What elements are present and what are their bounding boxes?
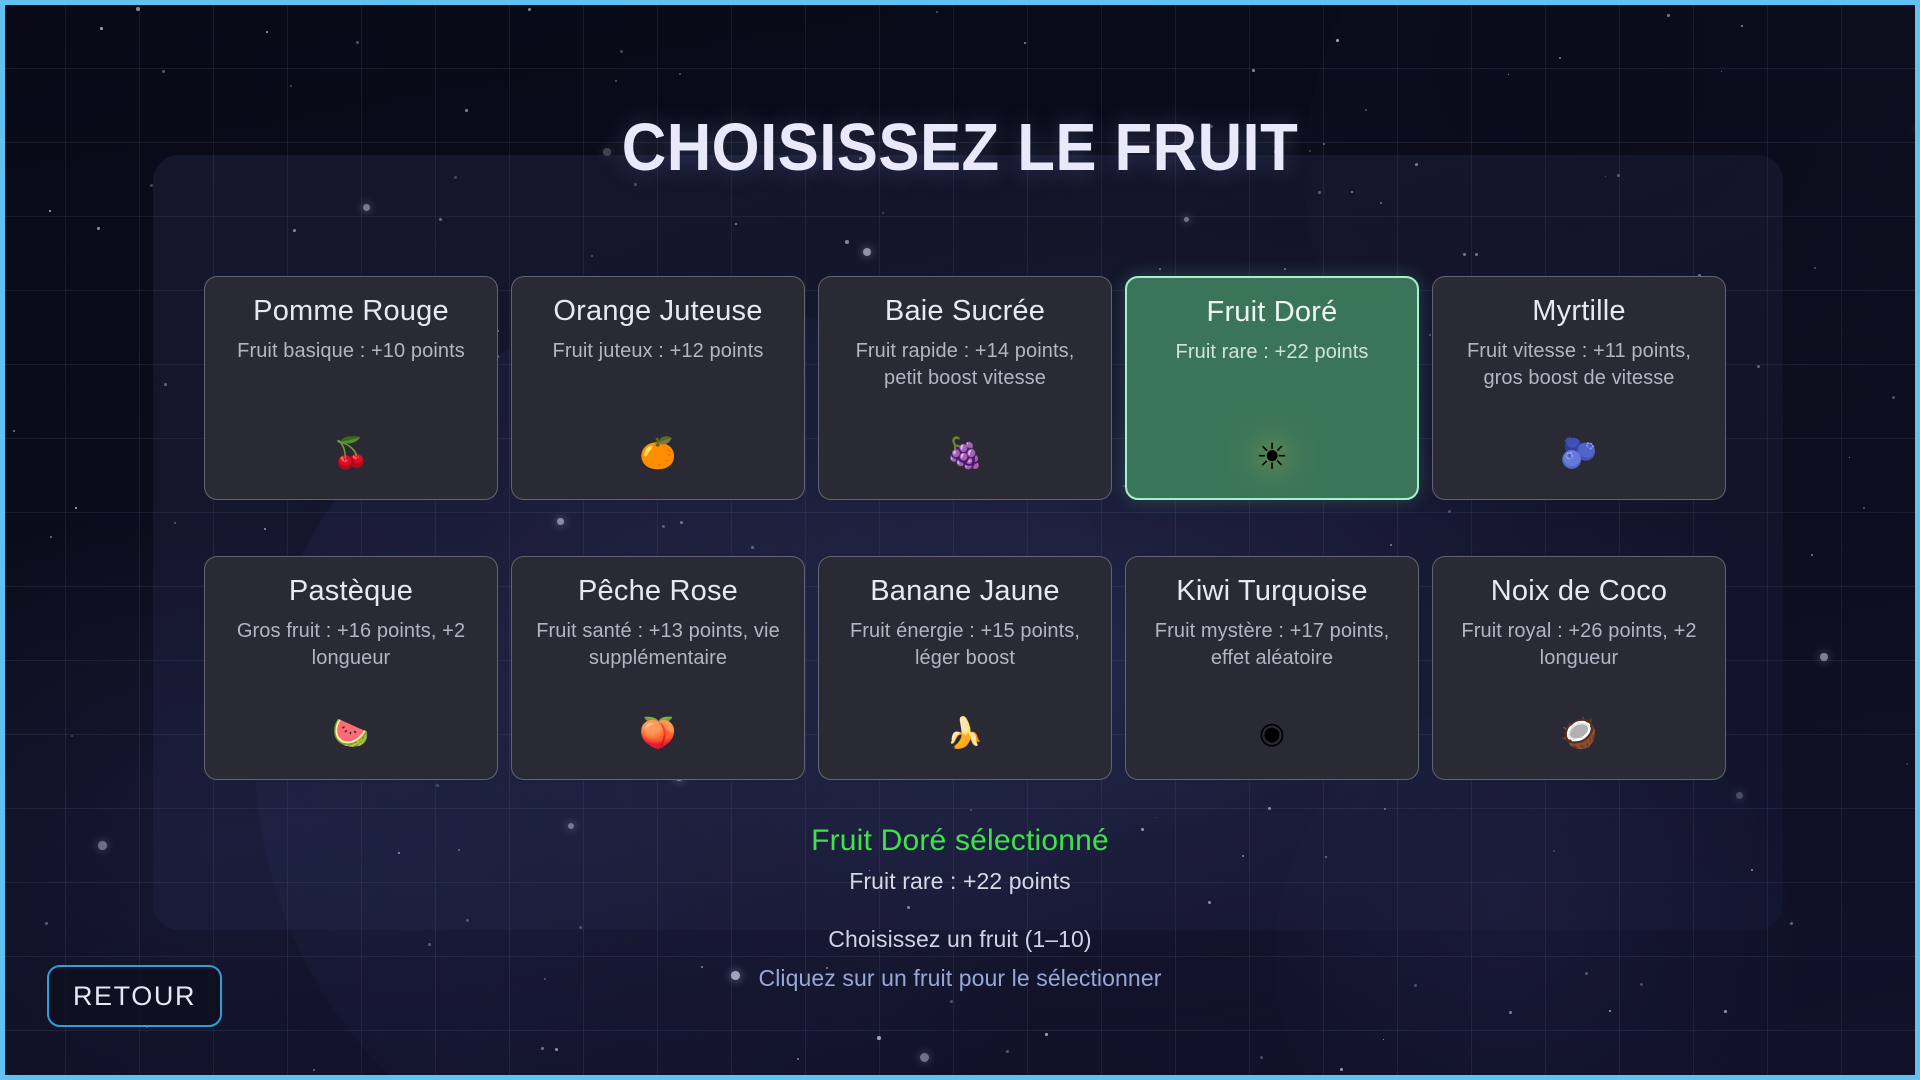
fruit-card-description: Fruit juteux : +12 points: [553, 338, 764, 364]
blueberry-icon: 🫐: [1433, 439, 1725, 469]
fruit-card-description: Fruit royal : +26 points, +2 longueur: [1453, 618, 1705, 671]
fruit-card-3[interactable]: Baie SucréeFruit rapide : +14 points, pe…: [818, 276, 1112, 500]
status-block: Fruit Doré sélectionné Fruit rare : +22 …: [5, 823, 1915, 992]
game-screen: CHOISISSEZ LE FRUIT Pomme RougeFruit bas…: [0, 0, 1920, 1080]
fruit-card-name: Kiwi Turquoise: [1176, 575, 1367, 607]
fruit-card-7[interactable]: Pêche RoseFruit santé : +13 points, vie …: [511, 556, 805, 780]
fruit-card-name: Pastèque: [289, 575, 413, 607]
fruit-card-name: Myrtille: [1532, 295, 1625, 327]
fruit-card-description: Fruit basique : +10 points: [237, 338, 465, 364]
fruit-card-4[interactable]: Fruit DoréFruit rare : +22 points☀: [1125, 276, 1419, 500]
fruit-card-name: Pomme Rouge: [253, 295, 449, 327]
fruit-card-2[interactable]: Orange JuteuseFruit juteux : +12 points🍊: [511, 276, 805, 500]
hint-secondary: Cliquez sur un fruit pour le sélectionne…: [5, 965, 1915, 992]
fruit-card-name: Noix de Coco: [1491, 575, 1668, 607]
fruit-card-description: Fruit mystère : +17 points, effet aléato…: [1146, 618, 1398, 671]
fruit-card-6[interactable]: PastèqueGros fruit : +16 points, +2 long…: [204, 556, 498, 780]
fruit-card-name: Baie Sucrée: [885, 295, 1045, 327]
fruit-card-name: Banane Jaune: [870, 575, 1059, 607]
fruit-card-name: Orange Juteuse: [553, 295, 762, 327]
fruit-card-description: Fruit vitesse : +11 points, gros boost d…: [1453, 338, 1705, 391]
selected-fruit-label: Fruit Doré sélectionné: [5, 823, 1915, 859]
back-button[interactable]: RETOUR: [47, 965, 222, 1027]
fruit-card-10[interactable]: Noix de CocoFruit royal : +26 points, +2…: [1432, 556, 1726, 780]
fruit-card-description: Fruit énergie : +15 points, léger boost: [839, 618, 1091, 671]
kiwi-icon: ◉: [1126, 719, 1418, 749]
peach-icon: 🍑: [512, 719, 804, 749]
fruit-card-description: Fruit rapide : +14 points, petit boost v…: [839, 338, 1091, 391]
fruit-card-description: Fruit rare : +22 points: [1176, 339, 1369, 365]
fruit-card-grid: Pomme RougeFruit basique : +10 points🍒Or…: [204, 276, 1728, 780]
fruit-card-description: Gros fruit : +16 points, +2 longueur: [225, 618, 477, 671]
fruit-card-9[interactable]: Kiwi TurquoiseFruit mystère : +17 points…: [1125, 556, 1419, 780]
fruit-card-5[interactable]: MyrtilleFruit vitesse : +11 points, gros…: [1432, 276, 1726, 500]
grape-berry-icon: 🍇: [819, 439, 1111, 469]
orange-icon: 🍊: [512, 439, 804, 469]
fruit-card-name: Fruit Doré: [1207, 296, 1338, 328]
fruit-card-8[interactable]: Banane JauneFruit énergie : +15 points, …: [818, 556, 1112, 780]
hint-primary: Choisissez un fruit (1–10): [5, 926, 1915, 953]
banana-icon: 🍌: [819, 719, 1111, 749]
fruit-card-1[interactable]: Pomme RougeFruit basique : +10 points🍒: [204, 276, 498, 500]
watermelon-icon: 🍉: [205, 719, 497, 749]
golden-fruit-icon: ☀: [1127, 440, 1417, 476]
fruit-card-name: Pêche Rose: [578, 575, 738, 607]
red-apple-icon: 🍒: [205, 439, 497, 469]
coconut-icon: 🥥: [1433, 719, 1725, 749]
fruit-card-description: Fruit santé : +13 points, vie supplément…: [532, 618, 784, 671]
page-title: CHOISISSEZ LE FRUIT: [81, 109, 1838, 186]
selected-fruit-detail: Fruit rare : +22 points: [5, 868, 1915, 895]
